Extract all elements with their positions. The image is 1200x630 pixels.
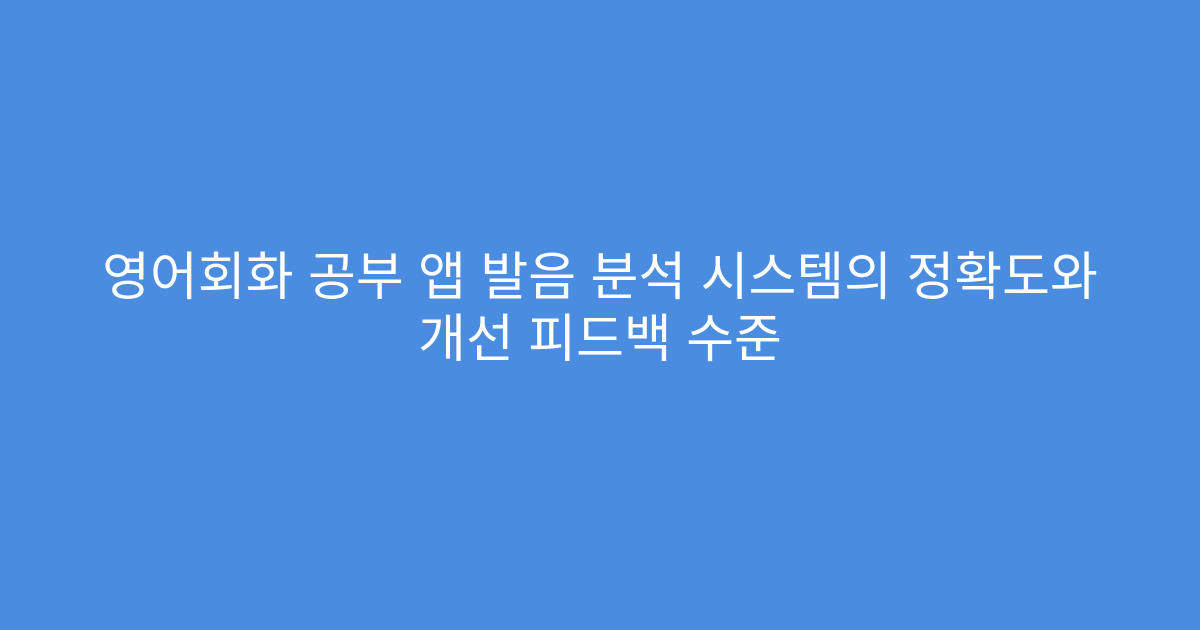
title-block: 영어회화 공부 앱 발음 분석 시스템의 정확도와 개선 피드백 수준 — [50, 247, 1150, 371]
title-card: 영어회화 공부 앱 발음 분석 시스템의 정확도와 개선 피드백 수준 — [0, 0, 1200, 630]
page-title: 영어회화 공부 앱 발음 분석 시스템의 정확도와 개선 피드백 수준 — [90, 247, 1110, 371]
